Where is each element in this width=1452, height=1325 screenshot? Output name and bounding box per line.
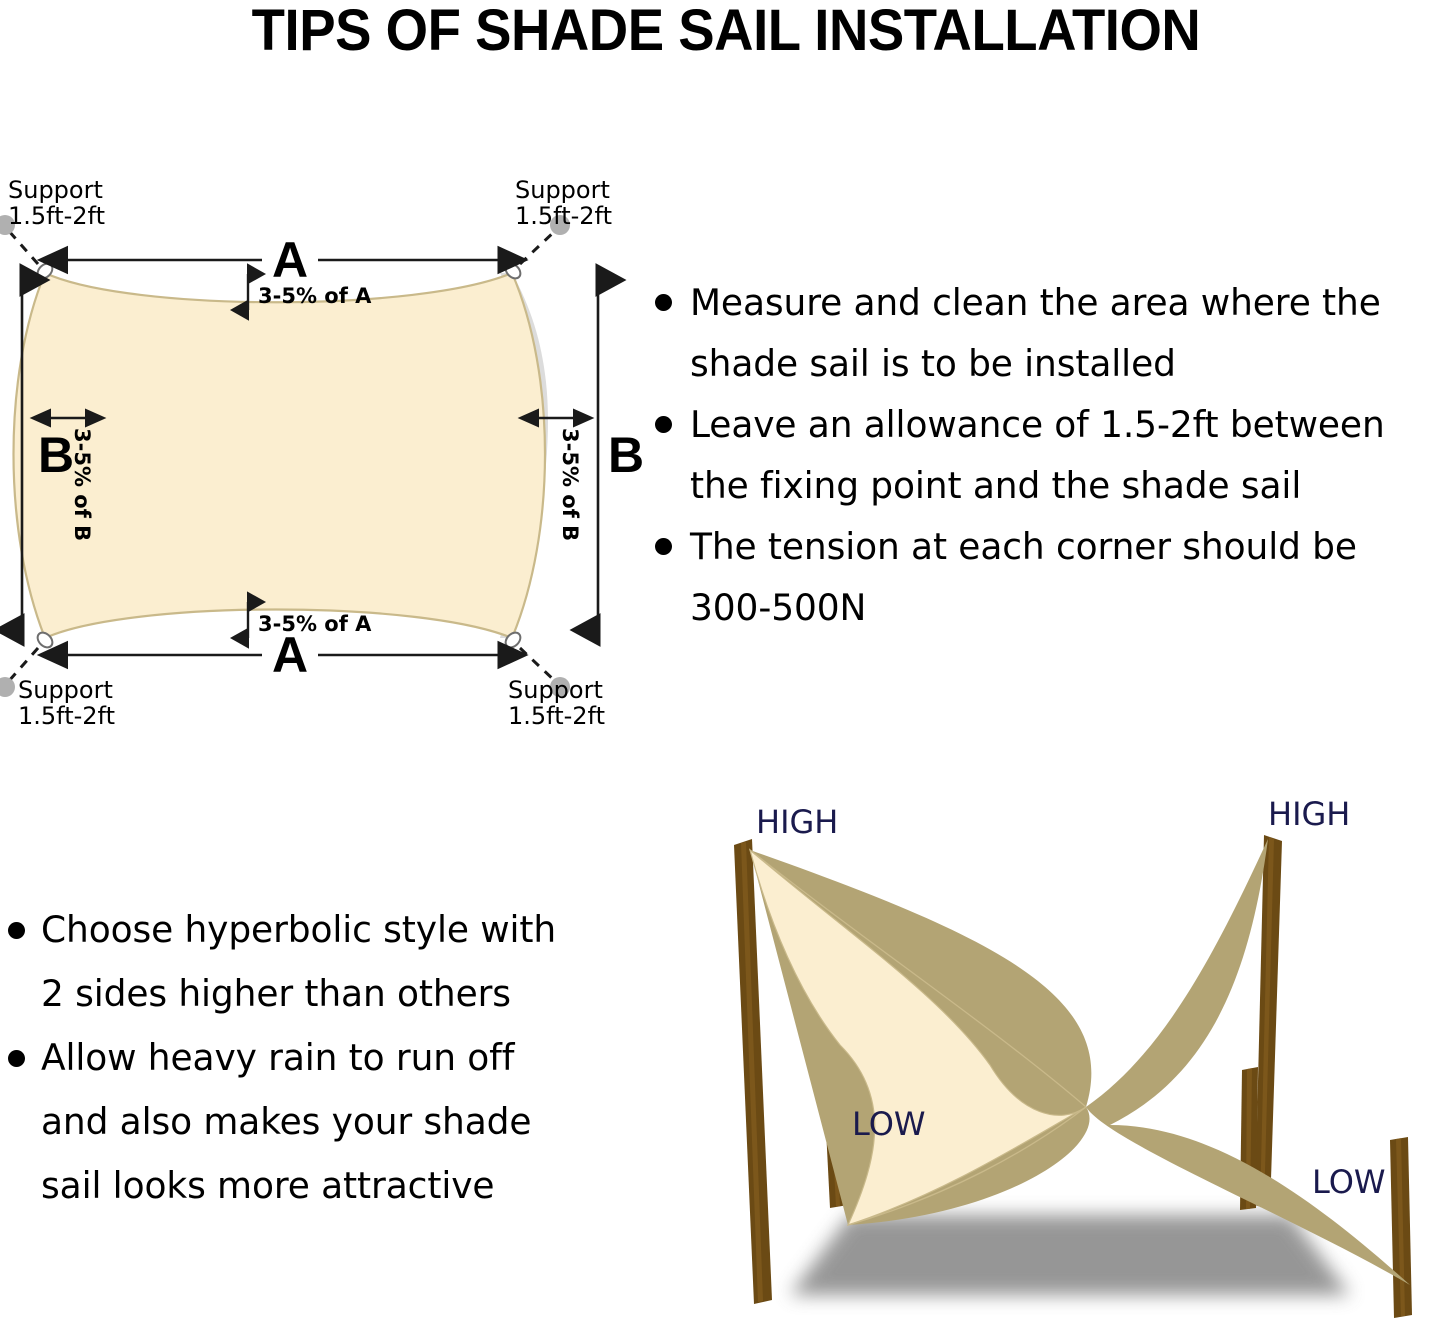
- bullet-list-installation: Measure and clean the area where the sha…: [655, 272, 1452, 638]
- bullet-dot-icon: [655, 538, 672, 555]
- dim-note-left-b: 3-5% of B: [70, 428, 94, 541]
- bullet-text: Measure and clean the area where the sha…: [690, 272, 1444, 394]
- bullet-text: Allow heavy rain to run off and also mak…: [41, 1026, 619, 1218]
- bullet-dot-icon: [655, 416, 672, 433]
- support-dot-bottom-left: [0, 677, 15, 697]
- label-post-left-high: HIGH: [756, 803, 838, 841]
- infographic-page: TIPS OF SHADE SAIL INSTALLATION: [0, 0, 1452, 1325]
- list-item: Measure and clean the area where the sha…: [655, 272, 1452, 394]
- support-line-top-right: [520, 230, 556, 264]
- support-label-top-left-line1: Support: [8, 176, 103, 204]
- list-item: Leave an allowance of 1.5-2ft between th…: [655, 394, 1452, 516]
- list-item: Allow heavy rain to run off and also mak…: [8, 1026, 628, 1218]
- dim-note-right-b: 3-5% of B: [558, 428, 582, 541]
- label-post-right-high: HIGH: [1268, 795, 1350, 833]
- dim-note-top-a: 3-5% of A: [258, 284, 372, 308]
- label-post-right-low: LOW: [1312, 1163, 1386, 1201]
- page-title: TIPS OF SHADE SAIL INSTALLATION: [44, 2, 1409, 60]
- support-line-top-left: [8, 230, 38, 264]
- bullet-dot-icon: [655, 294, 672, 311]
- support-label-top-left-line2: 1.5ft-2ft: [8, 202, 105, 230]
- bullet-dot-icon: [8, 922, 25, 939]
- bullet-text: The tension at each corner should be 300…: [690, 516, 1444, 638]
- bullet-list-hyperbolic: Choose hyperbolic style with 2 sides hig…: [8, 898, 628, 1218]
- post-right-low: [1390, 1137, 1412, 1318]
- hyperbolic-sail-diagram: HIGH HIGH LOW LOW: [690, 795, 1452, 1325]
- support-label-top-right-line1: Support: [515, 176, 610, 204]
- rect-sail-diagram: Support 1.5ft-2ft Support 1.5ft-2ft Supp…: [0, 160, 660, 740]
- list-item: The tension at each corner should be 300…: [655, 516, 1452, 638]
- bullet-dot-icon: [8, 1050, 25, 1067]
- dim-letter-right-b: B: [608, 427, 644, 483]
- label-post-left-low: LOW: [852, 1105, 926, 1143]
- list-item: Choose hyperbolic style with 2 sides hig…: [8, 898, 628, 1026]
- dim-letter-left-b: B: [38, 427, 74, 483]
- support-label-bottom-left-line1: Support: [18, 676, 113, 704]
- support-label-bottom-right-line2: 1.5ft-2ft: [508, 702, 605, 730]
- bullet-text: Choose hyperbolic style with 2 sides hig…: [41, 898, 619, 1026]
- bullet-text: Leave an allowance of 1.5-2ft between th…: [690, 394, 1444, 516]
- dim-note-bottom-a: 3-5% of A: [258, 612, 372, 636]
- support-label-bottom-left-line2: 1.5ft-2ft: [18, 702, 115, 730]
- support-label-bottom-right-line1: Support: [508, 676, 603, 704]
- support-label-top-right-line2: 1.5ft-2ft: [515, 202, 612, 230]
- dim-letter-top-a: A: [272, 232, 308, 288]
